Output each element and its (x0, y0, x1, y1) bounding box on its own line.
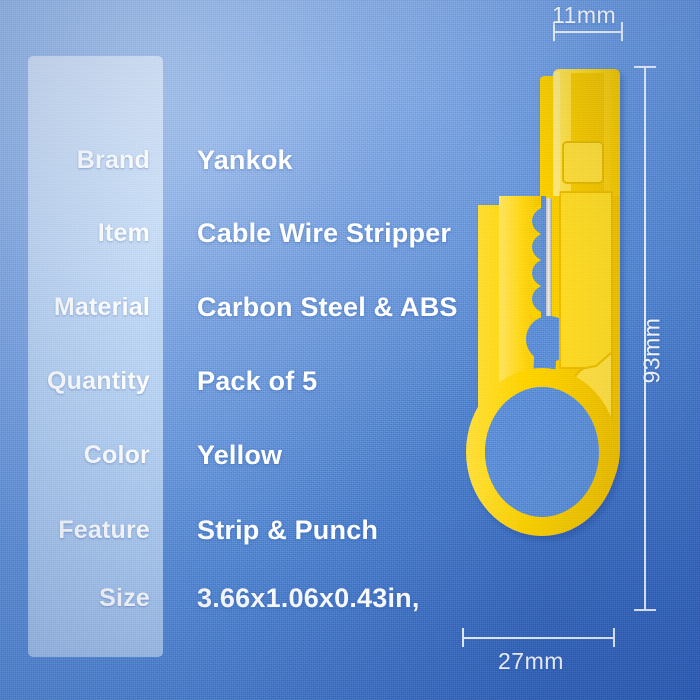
spec-label: Color (28, 435, 150, 475)
spec-value: Yankok (197, 140, 293, 180)
spec-row: Size3.66x1.06x0.43in, (0, 578, 700, 618)
spec-label: Quantity (28, 361, 150, 401)
spec-value: Cable Wire Stripper (197, 213, 451, 253)
spec-value: Pack of 5 (197, 361, 317, 401)
spec-label: Size (28, 578, 150, 618)
dimension-label-width-top: 11mm (552, 2, 616, 29)
spec-row: BrandYankok (0, 140, 700, 180)
spec-label: Material (28, 287, 150, 327)
spec-row: QuantityPack of 5 (0, 361, 700, 401)
spec-label: Feature (28, 510, 150, 550)
product-infographic-canvas: 11mm 93mm 27mm BrandYankokItemCable Wire… (0, 0, 700, 700)
spec-row: MaterialCarbon Steel & ABS (0, 287, 700, 327)
dimension-line-top (553, 31, 623, 33)
spec-value: Yellow (197, 435, 282, 475)
dimension-line-bottom (462, 637, 615, 639)
spec-value: Carbon Steel & ABS (197, 287, 458, 327)
dimension-tick-right-top (634, 66, 656, 68)
dimension-label-width-bottom: 27mm (498, 648, 564, 675)
spec-row: ColorYellow (0, 435, 700, 475)
spec-row: ItemCable Wire Stripper (0, 213, 700, 253)
spec-label: Brand (28, 140, 150, 180)
spec-value: 3.66x1.06x0.43in, (197, 578, 420, 618)
dimension-tick-top-right (621, 22, 623, 41)
dimension-tick-bottom-left (462, 628, 464, 647)
dimension-tick-bottom-right (613, 628, 615, 647)
spec-value: Strip & Punch (197, 510, 378, 550)
spec-row: FeatureStrip & Punch (0, 510, 700, 550)
spec-label: Item (28, 213, 150, 253)
